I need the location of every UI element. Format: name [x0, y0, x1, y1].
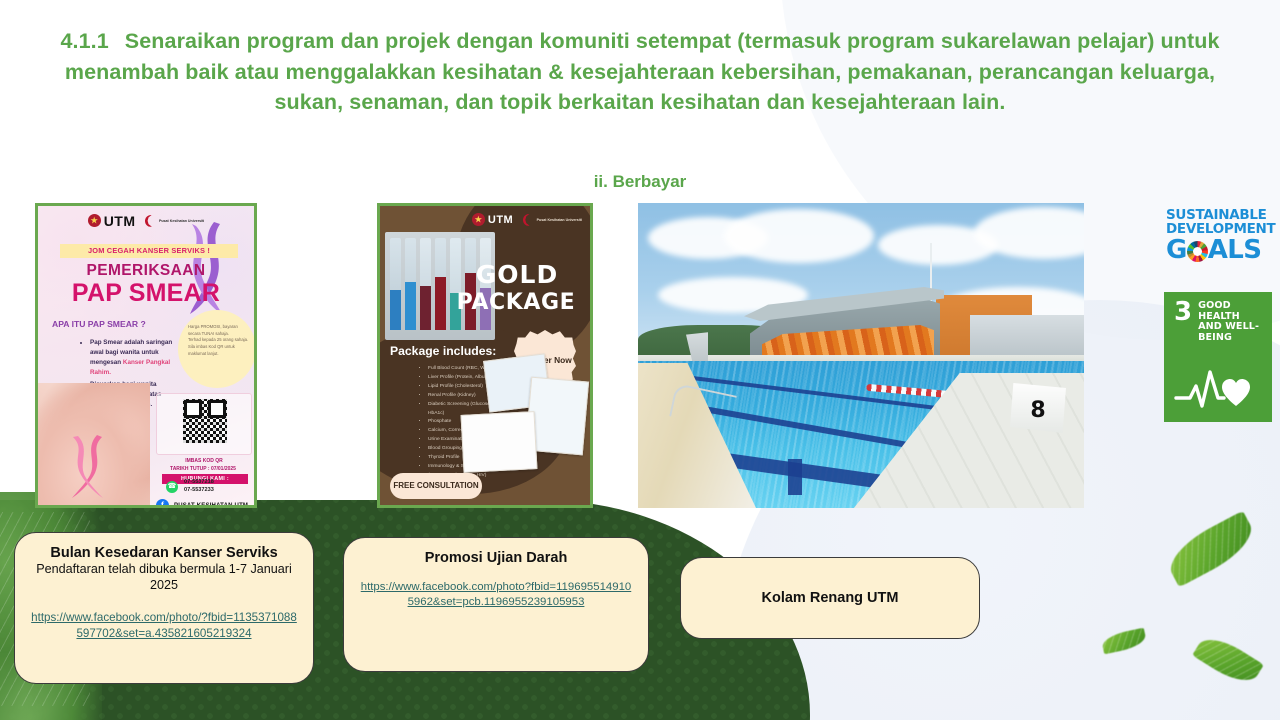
- photo-swimming-pool[interactable]: 8: [638, 203, 1084, 508]
- crescent-icon: [145, 215, 157, 227]
- note-item: Terhad kepada 25 orang sahaja.: [188, 337, 250, 344]
- caption-subtitle: Pendaftaran telah dibuka bermula 1-7 Jan…: [29, 562, 299, 593]
- crescent-icon: [523, 214, 535, 226]
- page-title-text: Senaraikan program dan projek dengan kom…: [65, 29, 1220, 114]
- poster-question: APA ITU PAP SMEAR ?: [52, 319, 146, 329]
- test-tube: [390, 238, 401, 330]
- qr-code[interactable]: [183, 399, 227, 443]
- sdg-goal-3-badge: 3 GOOD HEALTH AND WELL-BEING: [1164, 292, 1272, 422]
- sdg-goals-suffix: ALS: [1208, 237, 1262, 264]
- section-subtitle: ii. Berbayar: [0, 172, 1280, 192]
- starting-block: 8: [1010, 383, 1066, 433]
- caption-title: Kolam Renang UTM: [762, 590, 899, 606]
- caption-title: Promosi Ujian Darah: [358, 550, 634, 566]
- poster-title-line2: PACKAGE: [446, 290, 586, 315]
- whatsapp-icon: ☎: [166, 481, 178, 493]
- facebook-icon: f: [156, 499, 169, 508]
- heartbeat-icon: [1174, 362, 1262, 416]
- sdg-wheel-icon: [1187, 241, 1208, 262]
- qr-caption: IMBAS KOD QR: [156, 458, 252, 464]
- sdg-goal-name: GOOD HEALTH AND WELL-BEING: [1198, 301, 1262, 344]
- utm-seal-icon: ★: [88, 214, 101, 227]
- health-centre-label: Pusat Kesihatan Universiti: [537, 218, 582, 222]
- note-item: Harga PROMOSI, bayaran secara TUNAI saha…: [188, 324, 250, 337]
- poster-heading-line2: PAP SMEAR: [38, 279, 254, 308]
- utm-wordmark: UTM: [104, 213, 136, 229]
- lane-marking: [788, 459, 802, 495]
- poster-heading-line1: PEMERIKSAAN: [38, 262, 254, 280]
- poster-gold-package[interactable]: ★ UTM Pusat Kesihatan Universiti GOLD PA…: [377, 203, 593, 508]
- test-tube: [405, 238, 416, 330]
- caption-link[interactable]: https://www.facebook.com/photo?fbid=1196…: [358, 580, 634, 610]
- poster-header: ★ UTM Pusat Kesihatan Universiti: [472, 211, 582, 229]
- caption-title: Bulan Kesedaran Kanser Serviks: [29, 545, 299, 561]
- closing-date: TARIKH TUTUP : 07/01/2025: [150, 466, 256, 472]
- qr-container: [156, 393, 252, 455]
- test-tube: [420, 238, 431, 330]
- utm-seal-icon: ★: [472, 213, 485, 226]
- illustration-card: [461, 411, 538, 473]
- page-title: 4.1.1Senaraikan program dan projek denga…: [40, 26, 1240, 118]
- sdg-goals-prefix: G: [1166, 237, 1187, 264]
- sdg-logo: SUSTAINABLE DEVELOPMENT G ALS: [1166, 209, 1270, 263]
- caption-pap-smear: Bulan Kesedaran Kanser Serviks Pendaftar…: [14, 532, 314, 684]
- poster-banner: JOM CEGAH KANSER SERVIKS !: [60, 244, 238, 258]
- utm-logo: ★ UTM: [88, 213, 136, 229]
- page-title-number: 4.1.1: [60, 29, 108, 53]
- poster-title-line1: GOLD: [452, 260, 582, 289]
- utm-logo: ★ UTM: [472, 213, 513, 226]
- poster-pap-smear[interactable]: ★ UTM Pusat Kesihatan Universiti JOM CEG…: [35, 203, 257, 508]
- pool-house: [970, 315, 1084, 359]
- sdg-goal-3-header: 3 GOOD HEALTH AND WELL-BEING: [1174, 301, 1262, 344]
- sdg-goal-number: 3: [1174, 301, 1192, 325]
- poster-footer: ☎ 07-5537218 07-5537233 f PUSAT KESIHATA…: [38, 477, 254, 499]
- caption-swimming-pool: Kolam Renang UTM: [680, 557, 980, 639]
- caption-gold-package: Promosi Ujian Darah https://www.facebook…: [343, 537, 649, 672]
- phone-number: 07-5537233: [184, 487, 214, 495]
- includes-heading: Package includes:: [390, 344, 496, 358]
- utm-wordmark: UTM: [488, 214, 513, 226]
- health-centre-mark: Pusat Kesihatan Universiti: [523, 214, 582, 226]
- list-item: Pap Smear adalah saringan awal bagi wani…: [90, 338, 174, 378]
- starting-block-number: 8: [1030, 398, 1045, 423]
- facebook-page-name: PUSAT KESIHATAN UTM: [174, 503, 248, 508]
- note-item: Sila imbas Kod QR untuk maklumat lanjut.: [188, 344, 250, 357]
- cloud: [724, 209, 874, 263]
- sdg-goals-word: G ALS: [1166, 237, 1270, 264]
- test-tube: [435, 238, 446, 330]
- phone-numbers: 07-5537218 07-5537233: [184, 479, 214, 495]
- lab-illustrations: [462, 357, 586, 475]
- caption-link[interactable]: https://www.facebook.com/photo/?fbid=113…: [29, 610, 299, 640]
- phone-number: 07-5537218: [184, 479, 214, 487]
- free-consultation-badge: FREE CONSULTATION: [390, 473, 482, 499]
- poster-notes: Harga PROMOSI, bayaran secara TUNAI saha…: [188, 324, 250, 358]
